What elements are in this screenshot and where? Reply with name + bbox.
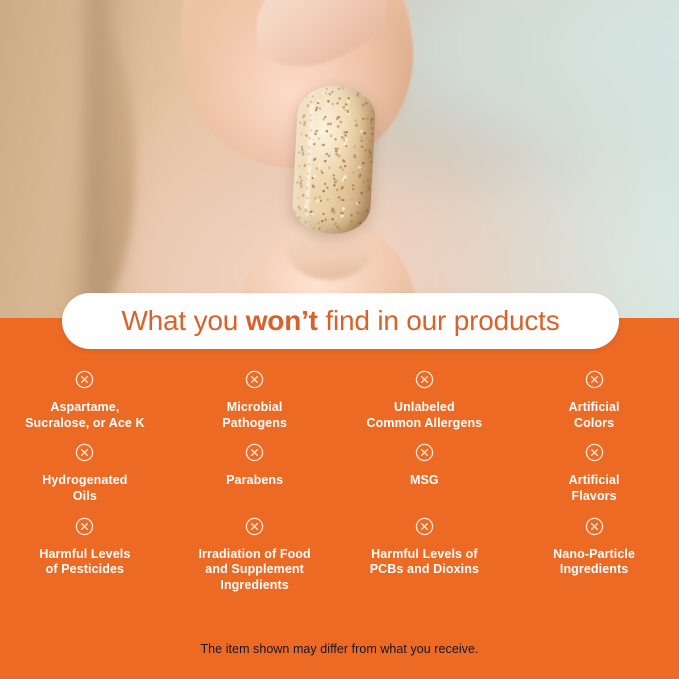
list-item: Hydrogenated Oils: [0, 443, 170, 504]
list-item-label: Hydrogenated Oils: [42, 473, 127, 504]
list-item-label: Parabens: [226, 473, 283, 489]
list-item-label: Irradiation of Food and Supplement Ingre…: [198, 547, 310, 594]
x-circle-icon: [245, 517, 264, 536]
x-circle-icon: [75, 370, 94, 389]
list-item-label: Artificial Flavors: [569, 473, 620, 504]
x-circle-icon: [585, 517, 604, 536]
product-info-graphic: What you won’t find in our products Aspa…: [0, 0, 679, 679]
list-item-label: Unlabeled Common Allergens: [367, 400, 483, 431]
list-item: Harmful Levels of PCBs and Dioxins: [340, 517, 510, 594]
x-circle-icon: [585, 370, 604, 389]
list-item-label: MSG: [410, 473, 439, 489]
product-photo: [0, 0, 679, 322]
list-item: Nano-Particle Ingredients: [509, 517, 679, 594]
list-item: Aspartame, Sucralose, or Ace K: [0, 370, 170, 431]
x-circle-icon: [415, 370, 434, 389]
page-title: What you won’t find in our products: [121, 307, 559, 335]
headline-bubble: What you won’t find in our products: [62, 293, 619, 349]
x-circle-icon: [585, 443, 604, 462]
title-prefix: What you: [121, 305, 245, 336]
list-item: Microbial Pathogens: [170, 370, 340, 431]
list-item-label: Nano-Particle Ingredients: [553, 547, 635, 578]
x-circle-icon: [75, 517, 94, 536]
exclusions-panel: What you won’t find in our products Aspa…: [0, 318, 679, 679]
x-circle-icon: [245, 443, 264, 462]
list-item: Artificial Colors: [509, 370, 679, 431]
list-item: Unlabeled Common Allergens: [340, 370, 510, 431]
x-circle-icon: [415, 517, 434, 536]
list-item: MSG: [340, 443, 510, 504]
tablet-rim-shading: [291, 84, 377, 236]
title-emphasis: won’t: [246, 305, 318, 336]
list-item: Parabens: [170, 443, 340, 504]
supplement-tablet: [291, 84, 377, 236]
x-circle-icon: [75, 443, 94, 462]
list-item-label: Harmful Levels of PCBs and Dioxins: [370, 547, 479, 578]
list-item-label: Harmful Levels of Pesticides: [39, 547, 130, 578]
background-finger-shading: [86, 0, 146, 322]
title-suffix: find in our products: [318, 305, 560, 336]
list-item: Irradiation of Food and Supplement Ingre…: [170, 517, 340, 594]
exclusions-grid: Aspartame, Sucralose, or Ace K Microbial…: [0, 370, 679, 593]
list-item: Artificial Flavors: [509, 443, 679, 504]
list-item-label: Microbial Pathogens: [222, 400, 287, 431]
list-item-label: Artificial Colors: [569, 400, 620, 431]
x-circle-icon: [415, 443, 434, 462]
list-item: Harmful Levels of Pesticides: [0, 517, 170, 594]
list-item-label: Aspartame, Sucralose, or Ace K: [25, 400, 145, 431]
x-circle-icon: [245, 370, 264, 389]
disclaimer-text: The item shown may differ from what you …: [0, 642, 679, 656]
